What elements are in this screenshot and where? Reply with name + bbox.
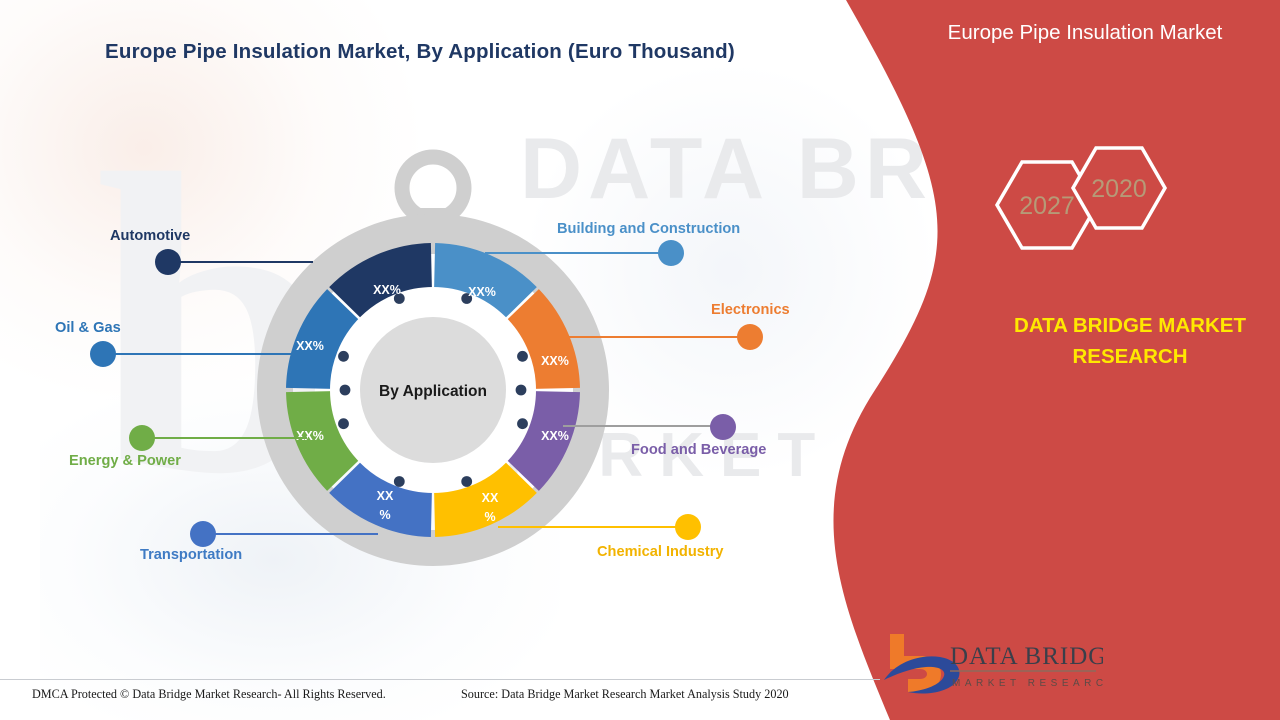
segment-value-chemical-1: XX [482,491,499,505]
panel-brand-line-1: DATA BRIDGE MARKET [960,310,1280,341]
callout-dot-energy[interactable] [129,425,155,451]
leader-line-automotive [168,261,313,263]
leader-line-chemical [498,526,693,528]
donut-center-label: By Application [379,383,487,400]
segment-value-energy: XX% [296,429,324,443]
hexagon-2020: 2020 [1073,148,1165,228]
callout-dot-building[interactable] [658,240,684,266]
callout-dot-transportation[interactable] [190,521,216,547]
callout-label-automotive[interactable]: Automotive [110,228,190,244]
footer-source: Source: Data Bridge Market Research Mark… [461,687,789,702]
footer-copyright: DMCA Protected © Data Bridge Market Rese… [32,687,386,702]
chart-title: Europe Pipe Insulation Market, By Applic… [105,40,735,64]
callout-label-electronics[interactable]: Electronics [711,302,790,318]
callout-label-building[interactable]: Building and Construction [557,221,740,237]
segment-value-chemical-2: % [484,510,495,524]
segment-value-automotive: XX% [373,283,401,297]
leader-line-electronics [545,336,750,338]
callout-label-chemical[interactable]: Chemical Industry [597,544,724,560]
callout-label-oilgas[interactable]: Oil & Gas [55,320,121,336]
segment-value-electronics: XX% [541,354,569,368]
segment-value-food: XX% [541,429,569,443]
leader-line-food [563,425,723,427]
callout-dot-chemical[interactable] [675,514,701,540]
callout-label-energy[interactable]: Energy & Power [69,453,181,469]
logo-wordmark: DATA BRIDGE [950,643,1103,670]
segment-value-building: XX% [468,285,496,299]
callout-label-food[interactable]: Food and Beverage [631,442,766,458]
segment-value-oilgas: XX% [296,339,324,353]
panel-brand-line-2: RESEARCH [960,341,1280,372]
logo-tagline: MARKET RESEARCH [952,678,1103,689]
callout-dot-electronics[interactable] [737,324,763,350]
segment-value-transportation-1: XX [377,489,394,503]
callout-dot-automotive[interactable] [155,249,181,275]
hexagon-2027-label: 2027 [1019,192,1075,220]
callout-dot-oilgas[interactable] [90,341,116,367]
leader-line-oilgas [103,353,298,355]
callout-label-transportation[interactable]: Transportation [140,547,242,563]
hexagon-2020-label: 2020 [1091,175,1147,203]
panel-brand: DATA BRIDGE MARKET RESEARCH [960,310,1280,372]
footer-divider [0,679,880,680]
callout-dot-food[interactable] [710,414,736,440]
leader-line-building [485,252,680,254]
infographic-stage: b DATA BRIDGE MARKET RESEARCH Europe Pip… [0,0,1280,720]
leader-line-transportation [203,533,378,535]
leader-line-energy [142,437,307,439]
panel-title: Europe Pipe Insulation Market [905,21,1265,45]
year-hexagons: 2027 2020 [985,140,1185,270]
data-bridge-logo: DATA BRIDGE MARKET RESEARCH [878,628,1103,700]
donut-chart: By Application XX% XX% XX% XX % XX % XX%… [237,140,637,570]
segment-value-transportation-2: % [379,508,390,522]
